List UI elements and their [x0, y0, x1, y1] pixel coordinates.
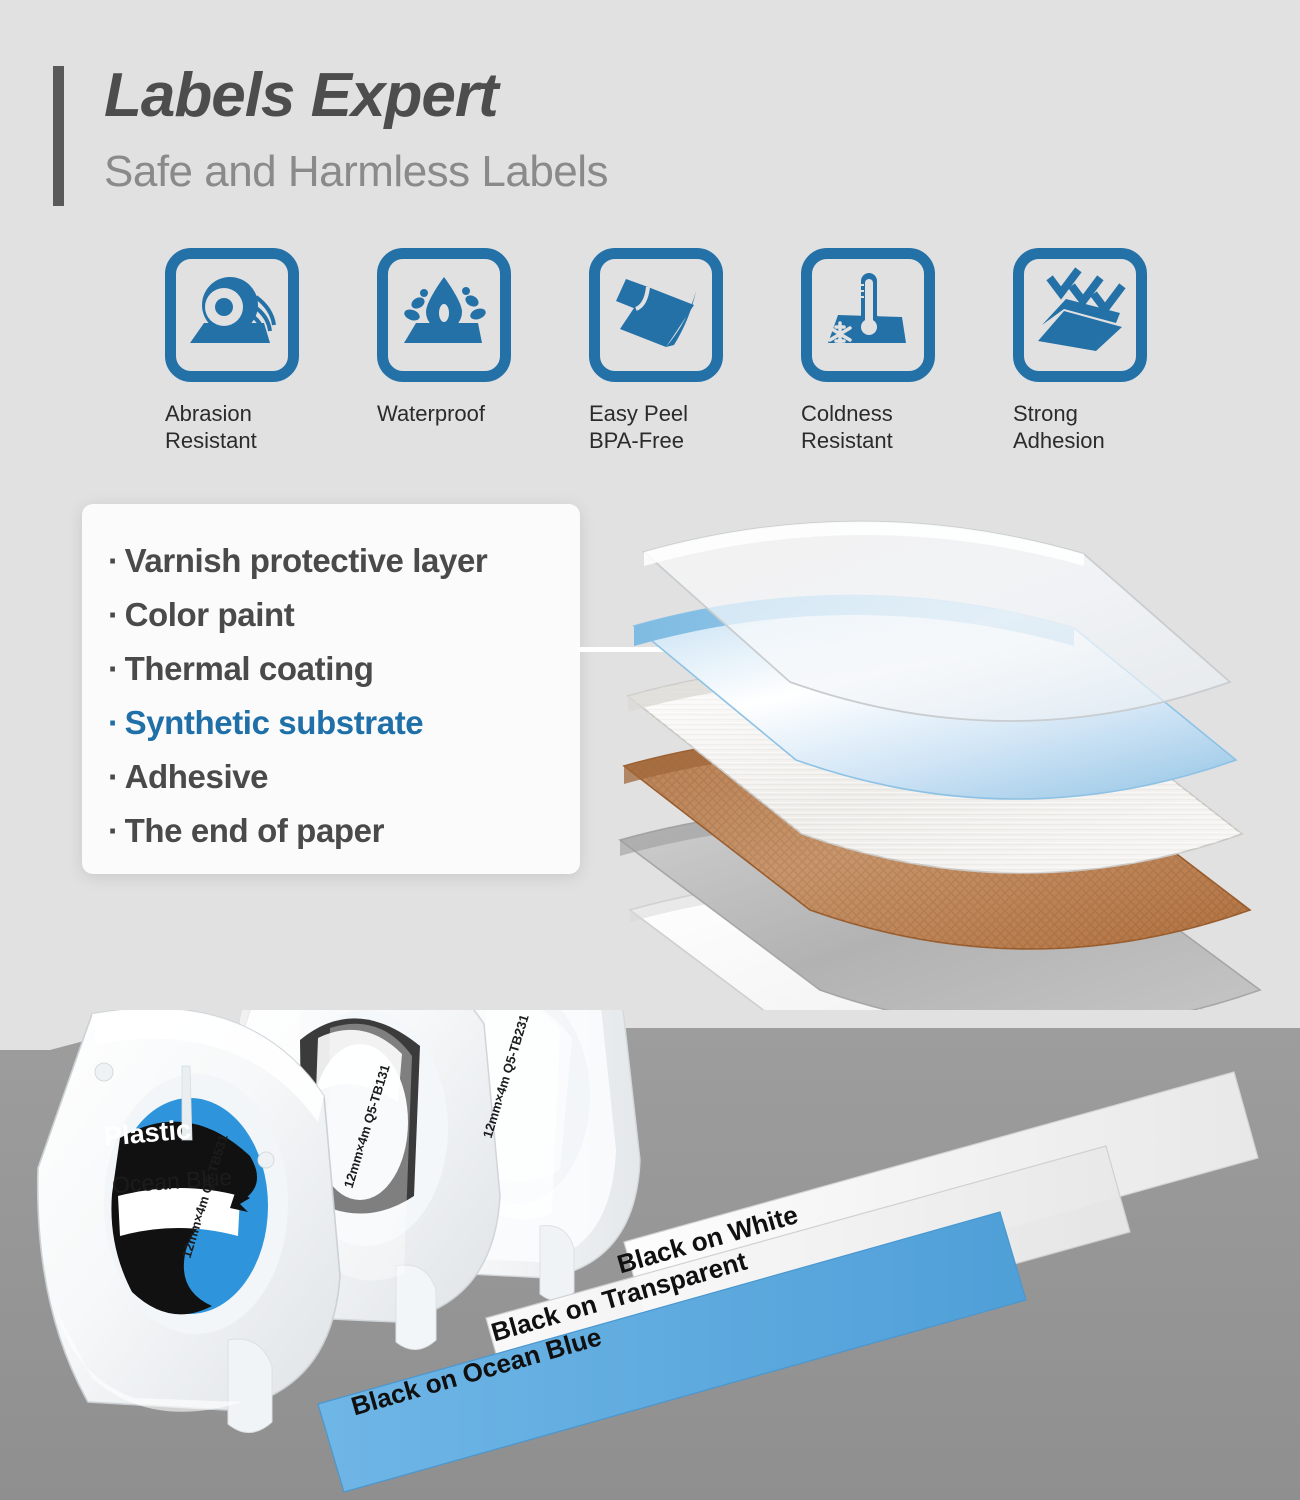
- title-accent-bar: [53, 66, 64, 206]
- feature-label: Abrasion Resistant: [165, 400, 299, 454]
- layers-callout-box: ·Varnish protective layer ·Color paint ·…: [82, 504, 580, 874]
- page-header: Labels Expert Safe and Harmless Labels: [0, 0, 1300, 220]
- feature-list: Abrasion Resistant Waterproof: [0, 248, 1300, 468]
- list-bullet: ·: [108, 704, 119, 741]
- feature-strong-adhesion: Strong Adhesion: [1013, 248, 1147, 454]
- list-bullet: ·: [108, 812, 119, 849]
- list-bullet: ·: [108, 542, 119, 579]
- feature-label: Waterproof: [377, 400, 511, 427]
- list-item: ·The end of paper: [108, 804, 580, 858]
- feature-waterproof: Waterproof: [377, 248, 511, 427]
- list-item-label: Color paint: [125, 596, 295, 633]
- list-item-label: Adhesive: [125, 758, 269, 795]
- feature-coldness-resistant: Coldness Resistant: [801, 248, 935, 454]
- list-bullet: ·: [108, 650, 119, 687]
- coldness-resistant-icon: [801, 248, 935, 382]
- list-item-label: The end of paper: [125, 812, 384, 849]
- page-subtitle: Safe and Harmless Labels: [104, 147, 608, 197]
- feature-label: Strong Adhesion: [1013, 400, 1147, 454]
- list-item: ·Varnish protective layer: [108, 534, 580, 588]
- page-title: Labels Expert: [104, 60, 498, 131]
- strong-adhesion-icon: [1013, 248, 1147, 382]
- list-bullet: ·: [108, 596, 119, 633]
- feature-label: Easy Peel BPA-Free: [589, 400, 723, 454]
- list-item-label: Thermal coating: [125, 650, 374, 687]
- list-item-label: Varnish protective layer: [125, 542, 488, 579]
- feature-easy-peel: Easy Peel BPA-Free: [589, 248, 723, 454]
- list-bullet: ·: [108, 758, 119, 795]
- layers-list: ·Varnish protective layer ·Color paint ·…: [82, 504, 580, 858]
- easy-peel-icon: [589, 248, 723, 382]
- abrasion-resistant-icon: [165, 248, 299, 382]
- feature-abrasion-resistant: Abrasion Resistant: [165, 248, 299, 454]
- list-item-label: Synthetic substrate: [125, 704, 424, 741]
- waterproof-icon: [377, 248, 511, 382]
- list-item-highlighted: ·Synthetic substrate: [108, 696, 580, 750]
- list-item: ·Color paint: [108, 588, 580, 642]
- list-item: ·Thermal coating: [108, 642, 580, 696]
- list-item: ·Adhesive: [108, 750, 580, 804]
- feature-label: Coldness Resistant: [801, 400, 935, 454]
